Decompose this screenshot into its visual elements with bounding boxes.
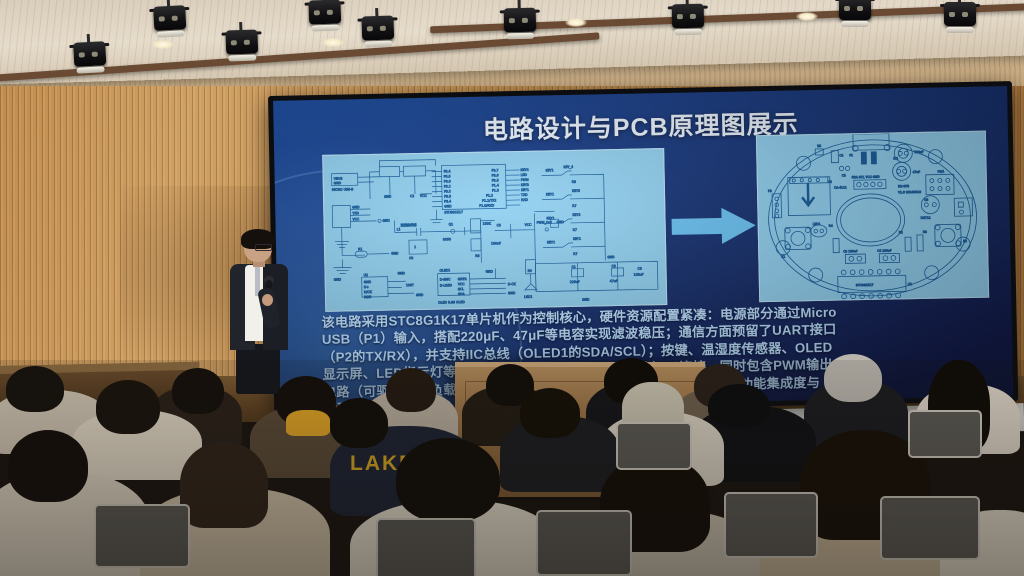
stage-spotlight	[69, 41, 111, 77]
stage-spotlight	[221, 29, 262, 64]
stage-spotlight	[835, 0, 875, 30]
audience-shading	[0, 360, 1024, 576]
audience: LAKE	[0, 360, 1024, 576]
downlight	[152, 40, 174, 49]
stage-spotlight	[304, 0, 345, 35]
downlight	[796, 12, 818, 21]
presenter-hand	[262, 294, 273, 306]
stage-spotlight	[500, 8, 541, 43]
stage-spotlight	[668, 4, 709, 39]
downlight	[322, 38, 344, 47]
downlight	[565, 18, 587, 27]
lecture-hall-photo: 电路设计与PCB原理图展示 VBUS GND MICRO USB-B GND	[0, 0, 1024, 576]
stage-spotlight	[149, 5, 191, 41]
stage-spotlight	[357, 15, 398, 50]
stage-spotlight	[940, 2, 980, 36]
glasses-icon	[255, 244, 272, 251]
